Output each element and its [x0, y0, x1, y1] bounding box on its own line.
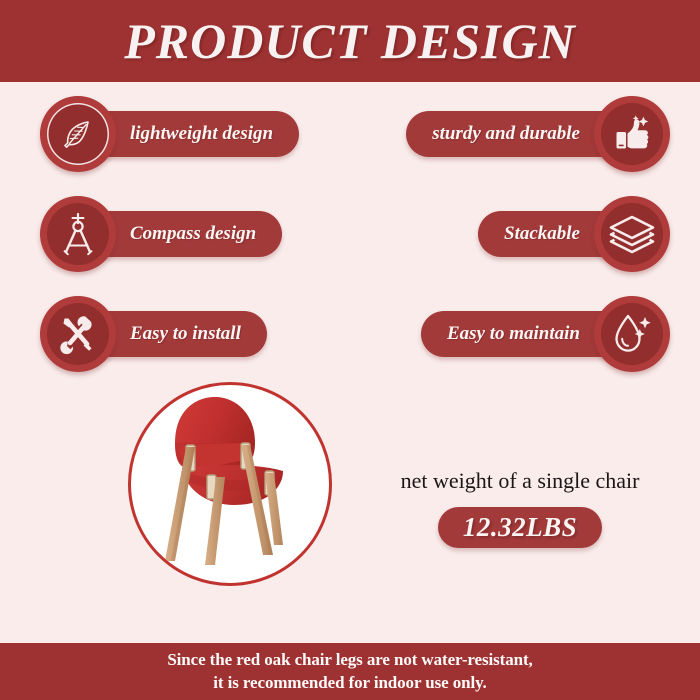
feature-label: lightweight design: [130, 123, 273, 145]
thumbs-up-badge: [594, 96, 670, 172]
feature-easy-to-install[interactable]: Easy to install: [40, 296, 267, 372]
feature-compass-design[interactable]: Compass design: [40, 196, 282, 272]
footer-line-1: Since the red oak chair legs are not wat…: [167, 649, 532, 672]
product-photo-circle: [128, 382, 332, 586]
feature-label: Easy to install: [130, 323, 241, 345]
footer-line-2: it is recommended for indoor use only.: [213, 672, 486, 695]
layers-stack-icon: [601, 203, 663, 265]
water-drop-sparkle-icon: [601, 303, 663, 365]
compass-icon: [47, 203, 109, 265]
feature-easy-to-maintain[interactable]: Easy to maintain: [421, 296, 670, 372]
tools-icon: [47, 303, 109, 365]
water-drop-sparkle-badge: [594, 296, 670, 372]
compass-badge: [40, 196, 116, 272]
weight-value: 12.32LBS: [463, 512, 577, 543]
feature-label: Easy to maintain: [447, 323, 580, 345]
feature-sturdy-and-durable[interactable]: sturdy and durable: [406, 96, 670, 172]
thumbs-up-icon: [601, 103, 663, 165]
page-title: PRODUCT DESIGN: [124, 16, 576, 66]
feature-list: lightweight design Compass design: [0, 92, 700, 377]
layers-stack-badge: [594, 196, 670, 272]
header-banner: PRODUCT DESIGN: [0, 0, 700, 82]
weight-caption: net weight of a single chair: [360, 468, 680, 494]
tools-badge: [40, 296, 116, 372]
weight-value-pill: 12.32LBS: [438, 507, 602, 548]
footer-banner: Since the red oak chair legs are not wat…: [0, 643, 700, 700]
feature-lightweight-design[interactable]: lightweight design: [40, 96, 299, 172]
feature-label: Compass design: [130, 223, 256, 245]
feather-badge: [40, 96, 116, 172]
feature-label: sturdy and durable: [432, 123, 580, 145]
feature-label: Stackable: [504, 223, 580, 245]
net-weight-block: net weight of a single chair 12.32LBS: [360, 468, 680, 548]
feature-stackable[interactable]: Stackable: [478, 196, 670, 272]
red-chair-illustration: [131, 385, 329, 583]
feather-icon: [47, 103, 109, 165]
